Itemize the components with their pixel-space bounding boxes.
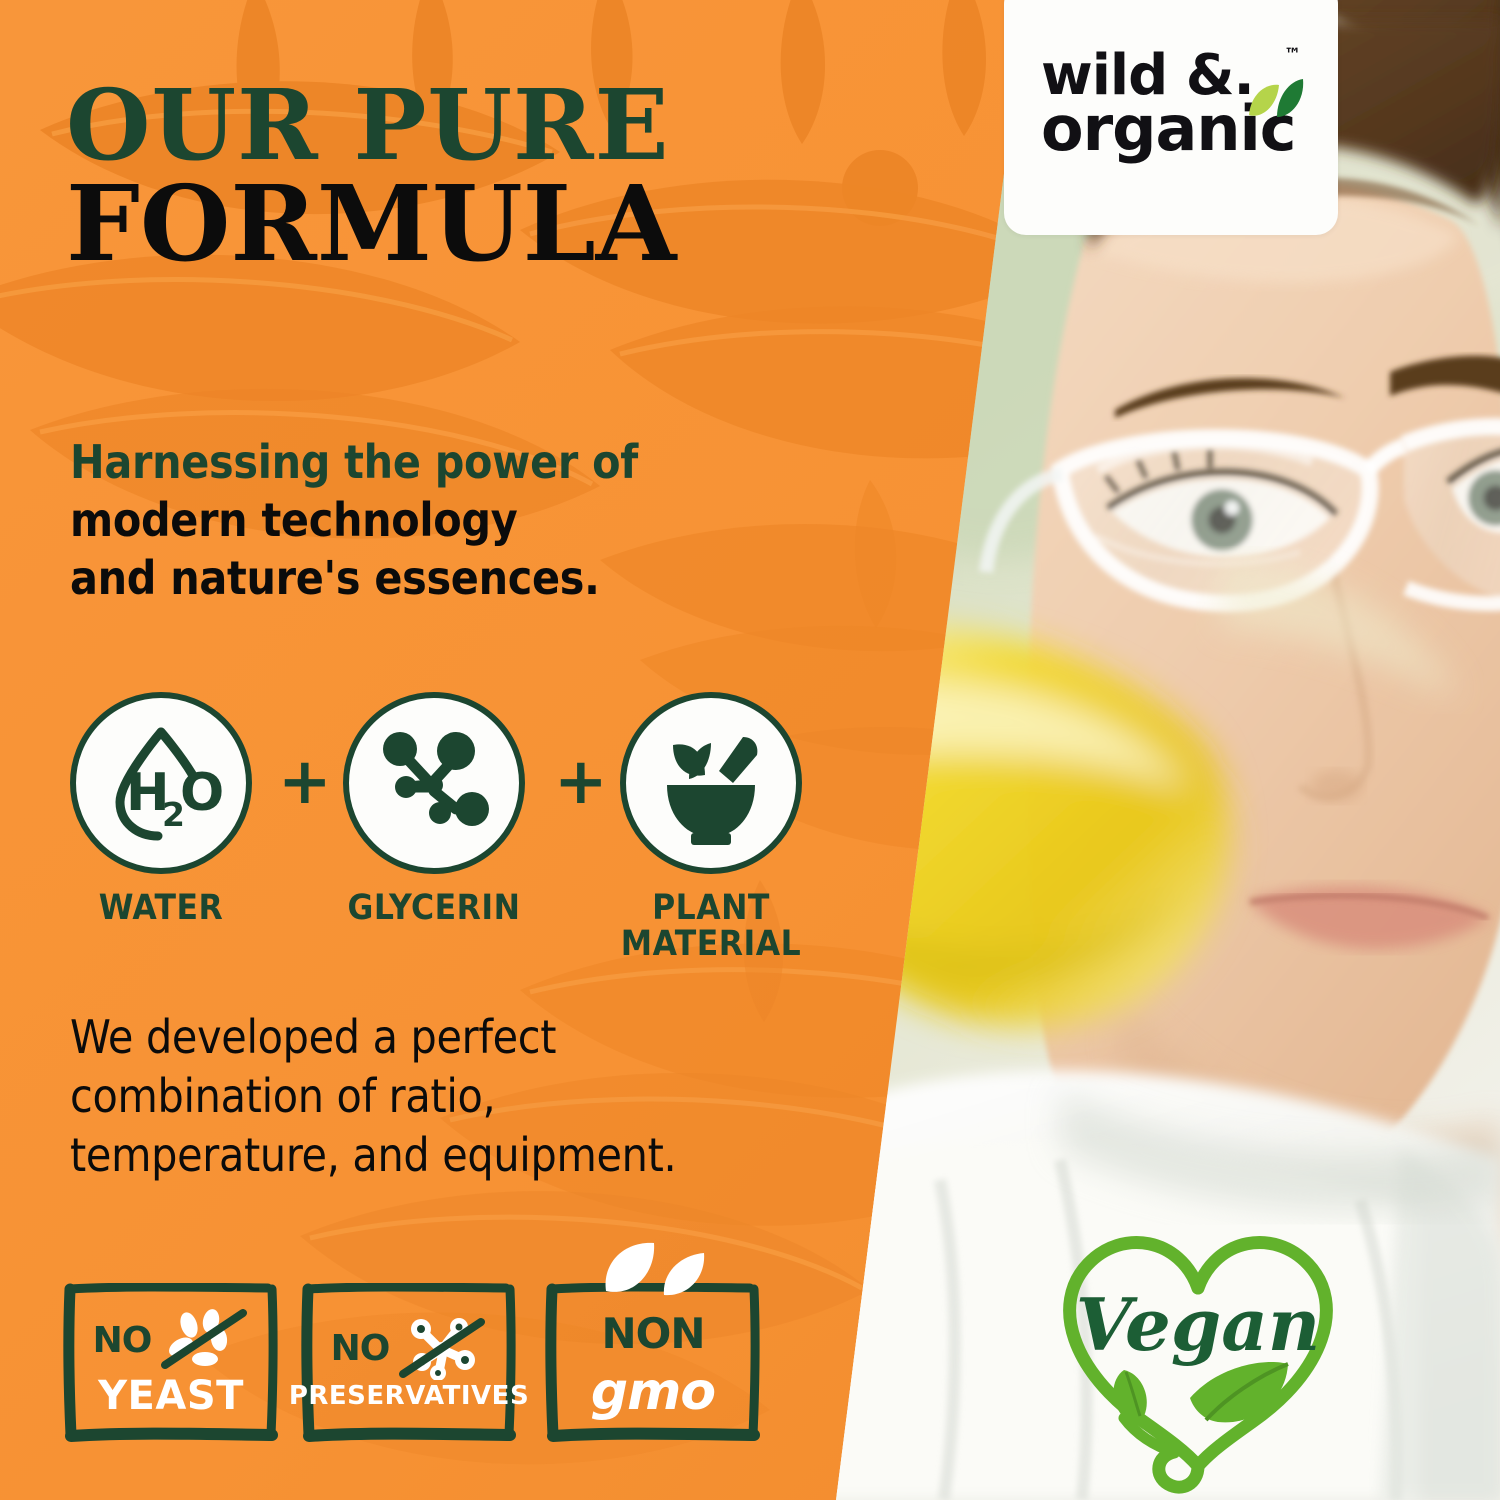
ingredient-label-plant: PLANT MATERIAL [620,890,802,963]
detail-line-1: We developed a perfect [70,1008,810,1067]
vegan-heart-leaf-icon: Vegan [1048,1222,1348,1494]
intro-paragraph: Harnessing the power of modern technolog… [70,434,770,608]
trademark-symbol: ™ [1284,45,1301,65]
plant-material-circle [620,692,802,874]
plus-sign-2: + [554,760,608,804]
claims-badge-row: NO YEAST [62,1283,762,1448]
ingredient-label-glycerin: GLYCERIN [343,890,525,926]
product-infographic: ™ wild &. organic OUR PURE FORMULA Harne… [0,0,1500,1500]
badge-word-preservatives: PRESERVATIVES [289,1381,529,1411]
detail-line-2: combination of ratio, [70,1067,810,1126]
ingredient-plant-material: PLANT MATERIAL [620,692,802,963]
ingredient-label-water: WATER [70,890,252,926]
glycerin-circle [343,692,525,874]
detail-paragraph: We developed a perfect combination of ra… [70,1008,810,1185]
svg-text:O: O [180,763,222,823]
plus-sign-1: + [278,760,332,804]
badge-word-gmo: gmo [591,1362,715,1422]
page-title: OUR PURE FORMULA [66,78,856,275]
logo-leaves-icon [1245,75,1307,123]
badge-prefix-no: NO [331,1328,390,1369]
detail-line-3: temperature, and equipment. [70,1126,810,1185]
water-drop-h2o-icon: H 2 O [100,722,222,844]
ingredient-list: H 2 O WATER + [70,692,810,987]
water-circle: H 2 O [70,692,252,874]
headline-line-1: OUR PURE [66,78,856,173]
ingredient-glycerin: GLYCERIN [343,692,525,926]
headline-line-2: FORMULA [66,173,856,275]
vegan-label: Vegan [1076,1282,1320,1367]
yeast-cells-crossed-icon [157,1309,249,1371]
molecule-crossed-icon [395,1316,487,1380]
intro-line-3: and nature's essences. [70,550,770,608]
brand-logo-card: ™ wild &. organic [1004,0,1338,235]
ingredient-water: H 2 O WATER [70,692,252,926]
badge-prefix-no: NO [93,1320,152,1361]
badge-non-gmo: NON gmo [544,1283,762,1443]
intro-line-2: modern technology [70,492,770,550]
badge-prefix-non: NON [601,1309,704,1358]
badge-word-yeast: YEAST [98,1373,244,1419]
badge-no-yeast: NO YEAST [62,1283,280,1443]
glycerin-molecule-icon [372,721,496,845]
badge-no-preservatives: NO [300,1283,518,1443]
intro-line-1: Harnessing the power of [70,434,770,492]
vegan-badge: Vegan [1048,1222,1348,1494]
mortar-pestle-icon [649,721,773,845]
